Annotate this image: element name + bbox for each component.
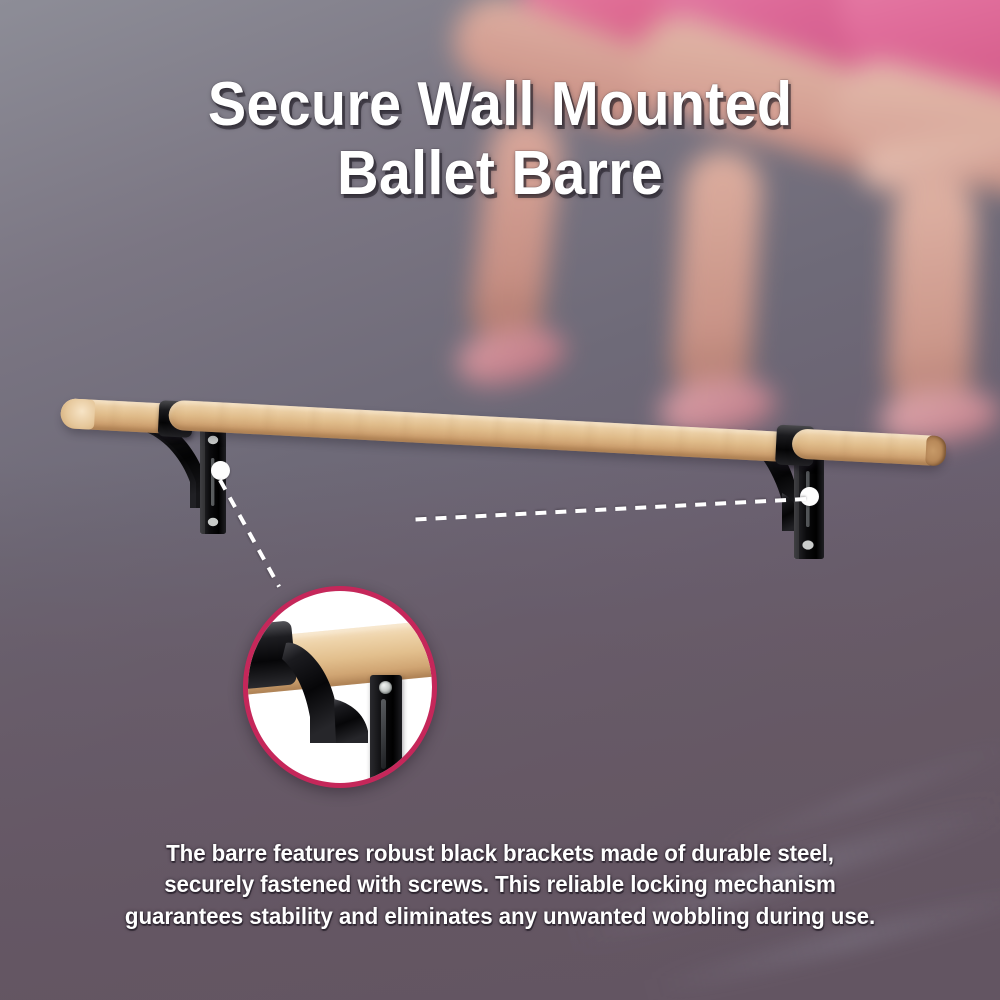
barre-segment-right — [791, 428, 944, 466]
magnified-screw-icon — [379, 777, 392, 788]
barre-right-end-grain-cap — [925, 435, 947, 466]
product-marketing-image: Secure Wall Mounted Ballet Barre — [0, 0, 1000, 1000]
bracket-detail-magnifier — [243, 586, 437, 788]
product-photo-group — [0, 0, 1000, 1000]
barre-segment-middle — [168, 400, 809, 463]
magnified-screw-icon — [379, 681, 392, 694]
barre-left-end-cap — [60, 398, 96, 430]
magnifier-contents — [248, 591, 432, 783]
callout-dot-icon — [211, 461, 230, 480]
magnified-plate-slot — [381, 699, 386, 769]
magnified-bracket-arm — [248, 591, 432, 783]
